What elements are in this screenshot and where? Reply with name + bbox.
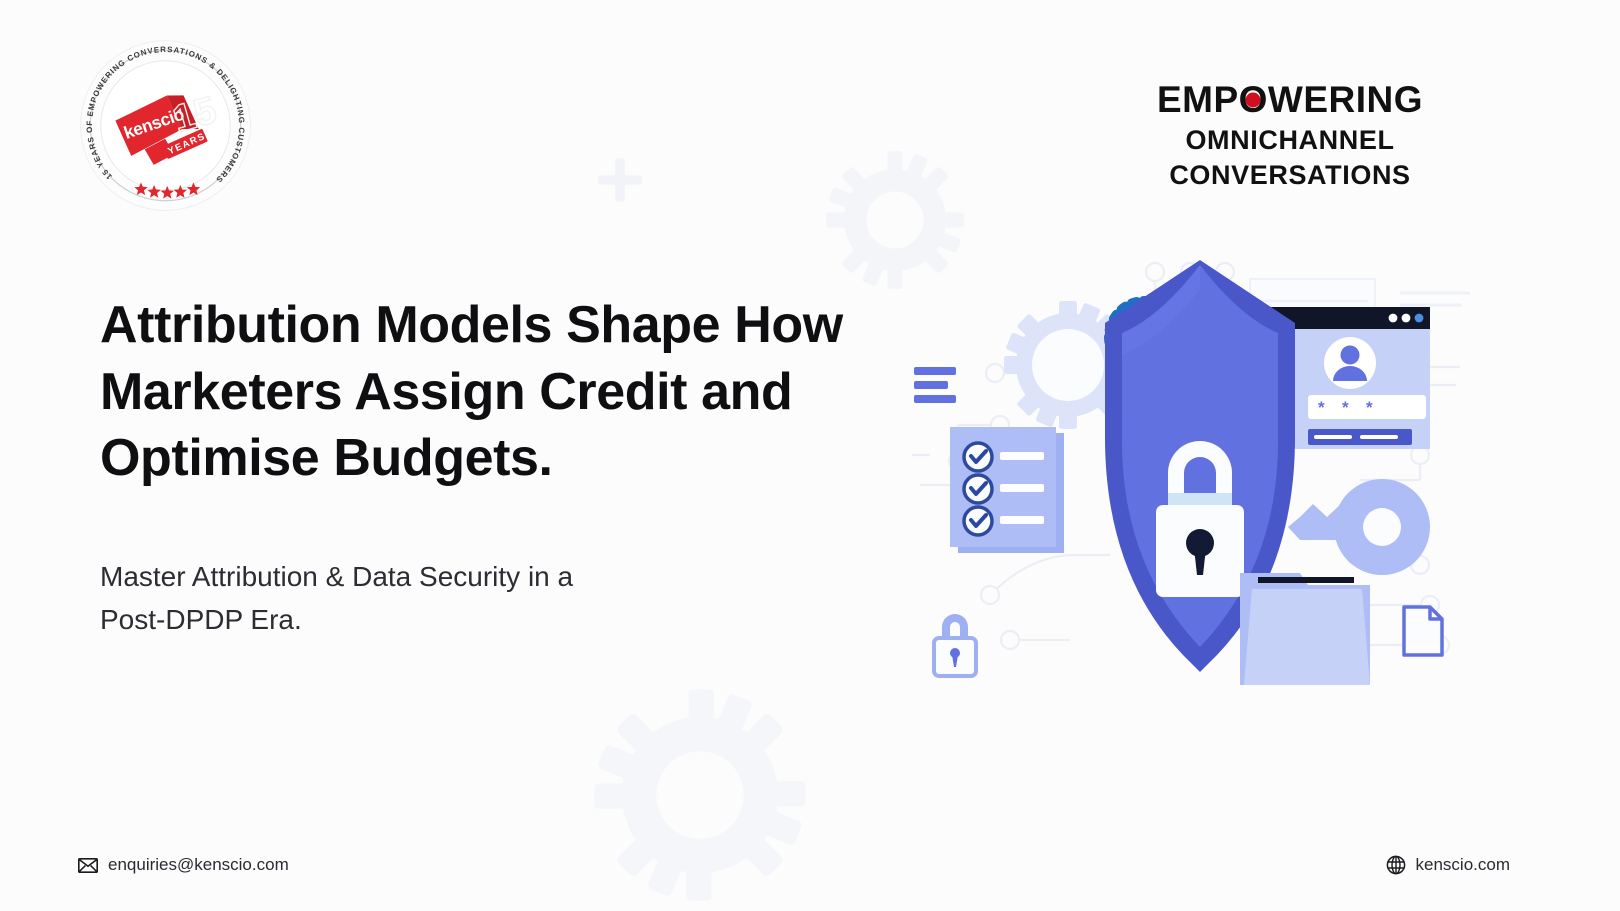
svg-text:*: * xyxy=(1318,398,1325,417)
subheadline-line-2: Post-DPDP Era. xyxy=(100,599,800,642)
checklist-card xyxy=(950,427,1064,553)
tagline-o-letter: O xyxy=(1239,78,1268,122)
kenscio-anniversary-logo[interactable]: 15 YEARS OF EMPOWERING CONVERSATIONS & D… xyxy=(78,38,253,213)
page-title: Attribution Models Shape How Marketers A… xyxy=(100,292,900,492)
browser-window-controls[interactable] xyxy=(1389,314,1424,323)
marketing-banner: 15 YEARS OF EMPOWERING CONVERSATIONS & D… xyxy=(0,0,1620,911)
headline-line-1: Attribution Models Shape How xyxy=(100,292,900,359)
subheadline-line-1: Master Attribution & Data Security in a xyxy=(100,556,800,599)
page-subtitle: Master Attribution & Data Security in a … xyxy=(100,556,800,641)
checklist-items xyxy=(964,443,1044,535)
avatar xyxy=(1324,337,1376,389)
globe-icon xyxy=(1386,855,1406,875)
footer-website-text: kenscio.com xyxy=(1416,855,1510,875)
hamburger-icon[interactable] xyxy=(914,367,956,403)
tagline-block: EMPOWERING OMNICHANNEL CONVERSATIONS xyxy=(1080,78,1500,191)
headline-line-2: Marketers Assign Credit and xyxy=(100,359,900,426)
password-field[interactable]: * * * xyxy=(1308,395,1426,419)
document-icon xyxy=(1404,607,1442,655)
tagline-line-conversations: CONVERSATIONS xyxy=(1080,160,1500,192)
footer-website[interactable]: kenscio.com xyxy=(1386,855,1510,875)
tagline-accent-dot xyxy=(1246,92,1261,107)
footer-email[interactable]: enquiries@kenscio.com xyxy=(78,855,289,875)
login-button[interactable] xyxy=(1308,429,1412,445)
footer-email-text: enquiries@kenscio.com xyxy=(108,855,289,875)
key-icon xyxy=(1288,479,1430,575)
background-plus-watermark xyxy=(590,150,650,210)
envelope-icon xyxy=(78,858,98,873)
data-security-shield-illustration: * * * xyxy=(900,255,1500,685)
background-gear-watermark-bottom xyxy=(585,680,815,910)
small-lock-icon xyxy=(934,614,976,676)
svg-text:*: * xyxy=(1342,398,1349,417)
headline-line-3: Optimise Budgets. xyxy=(100,425,900,492)
folder-icon xyxy=(1240,573,1370,685)
tagline-empowering-prefix: EMP xyxy=(1157,79,1239,120)
svg-text:*: * xyxy=(1366,398,1373,417)
tagline-line-empowering: EMPOWERING xyxy=(1080,78,1500,122)
tagline-empowering-suffix: WERING xyxy=(1268,79,1423,120)
tagline-line-omnichannel: OMNICHANNEL xyxy=(1080,125,1500,157)
